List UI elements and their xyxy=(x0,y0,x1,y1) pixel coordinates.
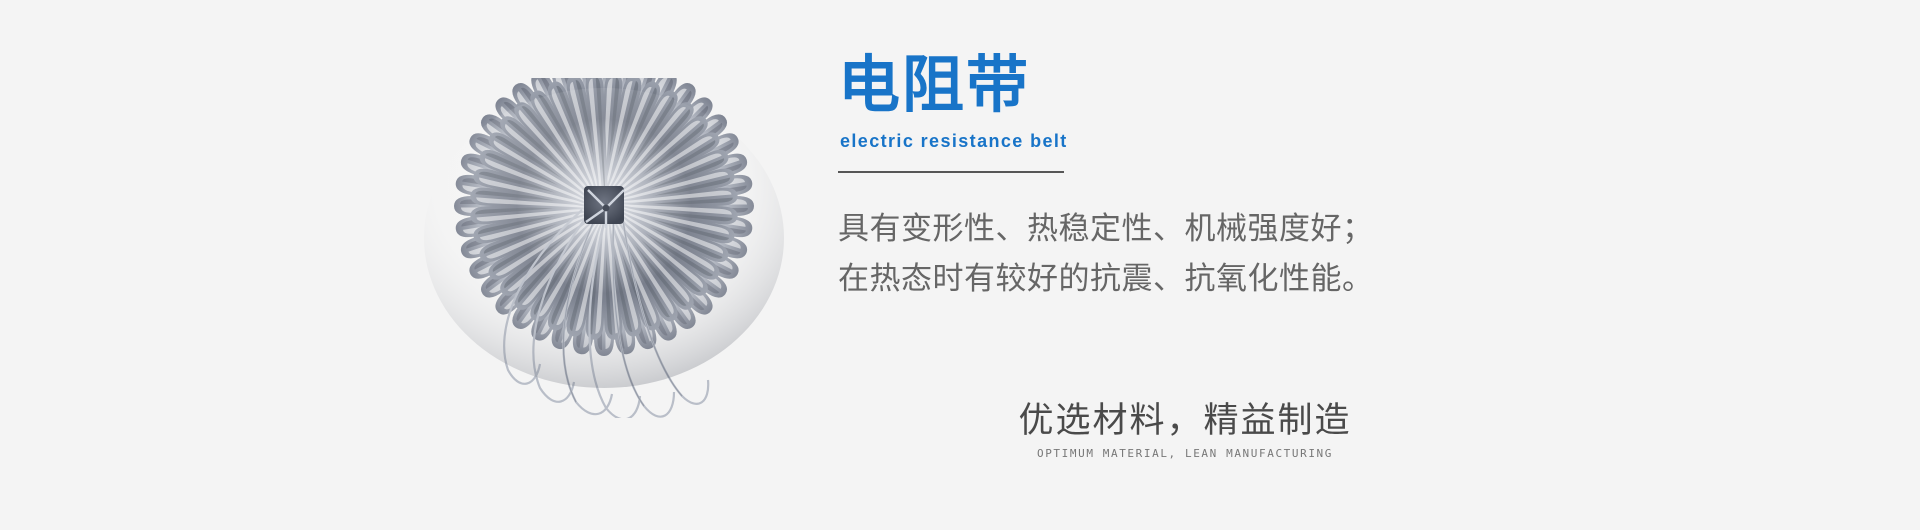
tagline-block: 优选材料，精益制造 OPTIMUM MATERIAL, LEAN MANUFAC… xyxy=(955,400,1415,461)
tagline-chinese: 优选材料，精益制造 xyxy=(955,400,1415,442)
product-description: 具有变形性、热稳定性、机械强度好； 在热态时有较好的抗震、抗氧化性能。 xyxy=(838,204,1718,304)
tagline-english: OPTIMUM MATERIAL, LEAN MANUFACTURING xyxy=(955,447,1415,461)
banner-text-column: 电阻带 electric resistance belt 具有变形性、热稳定性、… xyxy=(838,52,1718,304)
page-title: 电阻带 xyxy=(838,52,1718,120)
product-image xyxy=(418,78,818,418)
description-line-1: 具有变形性、热稳定性、机械强度好； xyxy=(838,204,1718,254)
resistance-belt-bundle-icon xyxy=(418,78,818,418)
description-line-2: 在热态时有较好的抗震、抗氧化性能。 xyxy=(838,254,1718,304)
product-banner: 电阻带 electric resistance belt 具有变形性、热稳定性、… xyxy=(0,0,1920,530)
divider xyxy=(838,171,1064,173)
page-subtitle: electric resistance belt xyxy=(840,130,1718,152)
